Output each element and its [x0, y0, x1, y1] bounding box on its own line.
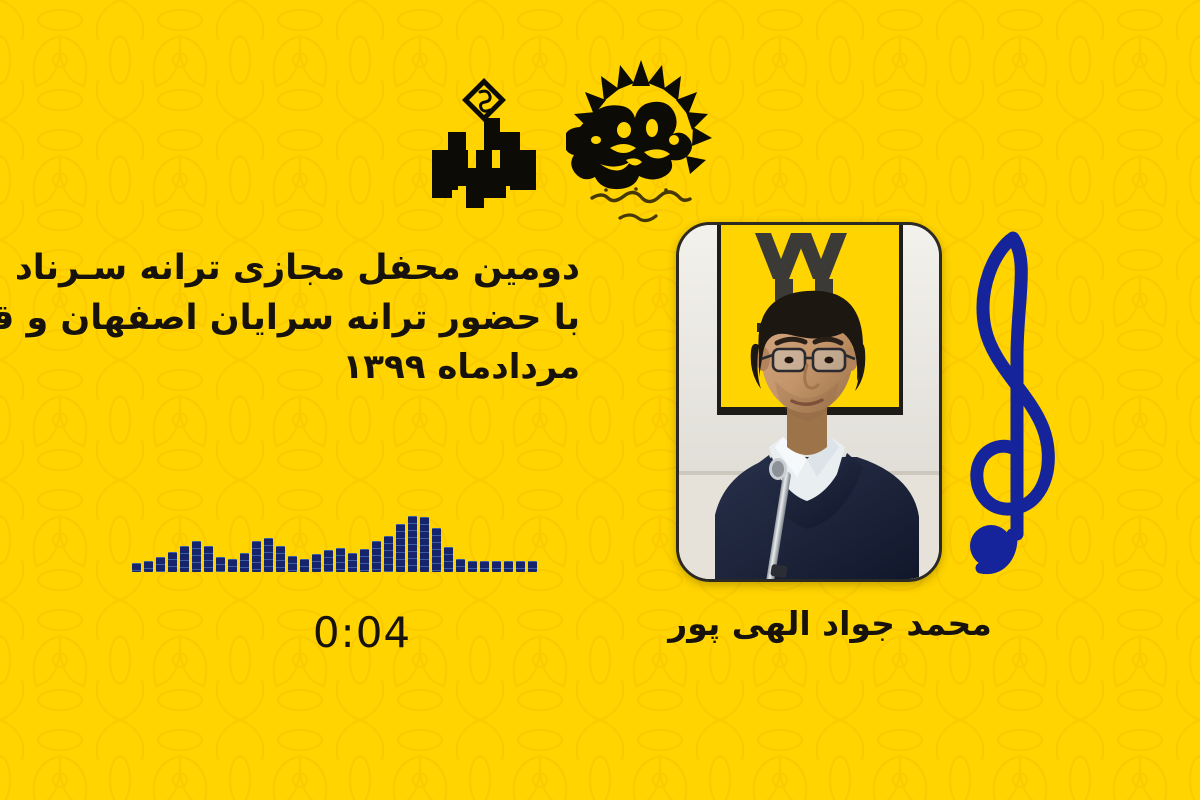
waveform-bar	[480, 561, 489, 572]
waveform-bar	[384, 536, 393, 572]
waveform-bar	[312, 554, 321, 572]
waveform-bar	[420, 517, 429, 572]
audio-waveform[interactable]	[132, 500, 592, 572]
waveform-bar	[156, 557, 165, 572]
playback-timer: 0:04	[132, 608, 592, 657]
waveform-bar	[372, 541, 381, 572]
headline-block: دومین محفل مجازی ترانه سـرناد با حضور تر…	[120, 244, 580, 392]
khorshid-logo	[566, 56, 716, 234]
waveform-bar	[264, 538, 273, 572]
waveform-bar	[432, 528, 441, 572]
waveform-bar	[240, 553, 249, 572]
waveform-bar	[504, 561, 513, 572]
waveform-bar	[180, 546, 189, 572]
waveform-bar	[516, 561, 525, 572]
waveform-bar	[360, 549, 369, 572]
treble-clef-icon	[955, 216, 1075, 586]
waveform-bar	[300, 559, 309, 572]
waveform-bar	[228, 559, 237, 572]
waveform-bar	[132, 563, 141, 572]
poster-canvas: دومین محفل مجازی ترانه سـرناد با حضور تر…	[0, 0, 1200, 800]
headline-line-1: دومین محفل مجازی ترانه سـرناد	[120, 244, 580, 294]
waveform-bar	[408, 516, 417, 572]
portrait-name-caption: محمد جواد الهی پور	[660, 604, 1000, 643]
waveform-bar	[168, 552, 177, 572]
waveform-bar	[288, 556, 297, 572]
waveform-bar	[204, 546, 213, 572]
waveform-bar	[276, 546, 285, 572]
waveform-bar	[192, 541, 201, 572]
nada-logo	[414, 74, 554, 214]
waveform-bar	[444, 547, 453, 572]
waveform-bar	[468, 561, 477, 572]
waveform-bar	[252, 541, 261, 572]
headline-line-3-date: مردادماه ۱۳۹۹	[120, 343, 580, 391]
portrait-photo-card	[676, 222, 942, 582]
waveform-bar	[216, 557, 225, 572]
waveform-bar	[324, 550, 333, 572]
waveform-bar	[396, 524, 405, 572]
headline-line-2: با حضور ترانه سرایان اصفهان و قم	[120, 294, 580, 344]
waveform-bar	[144, 561, 153, 572]
waveform-bar	[456, 559, 465, 572]
waveform-bar	[336, 548, 345, 572]
waveform-bar	[348, 553, 357, 572]
waveform-bar	[492, 561, 501, 572]
portrait-photo	[679, 225, 939, 579]
logo-row	[404, 56, 724, 236]
waveform-bar	[528, 561, 537, 572]
